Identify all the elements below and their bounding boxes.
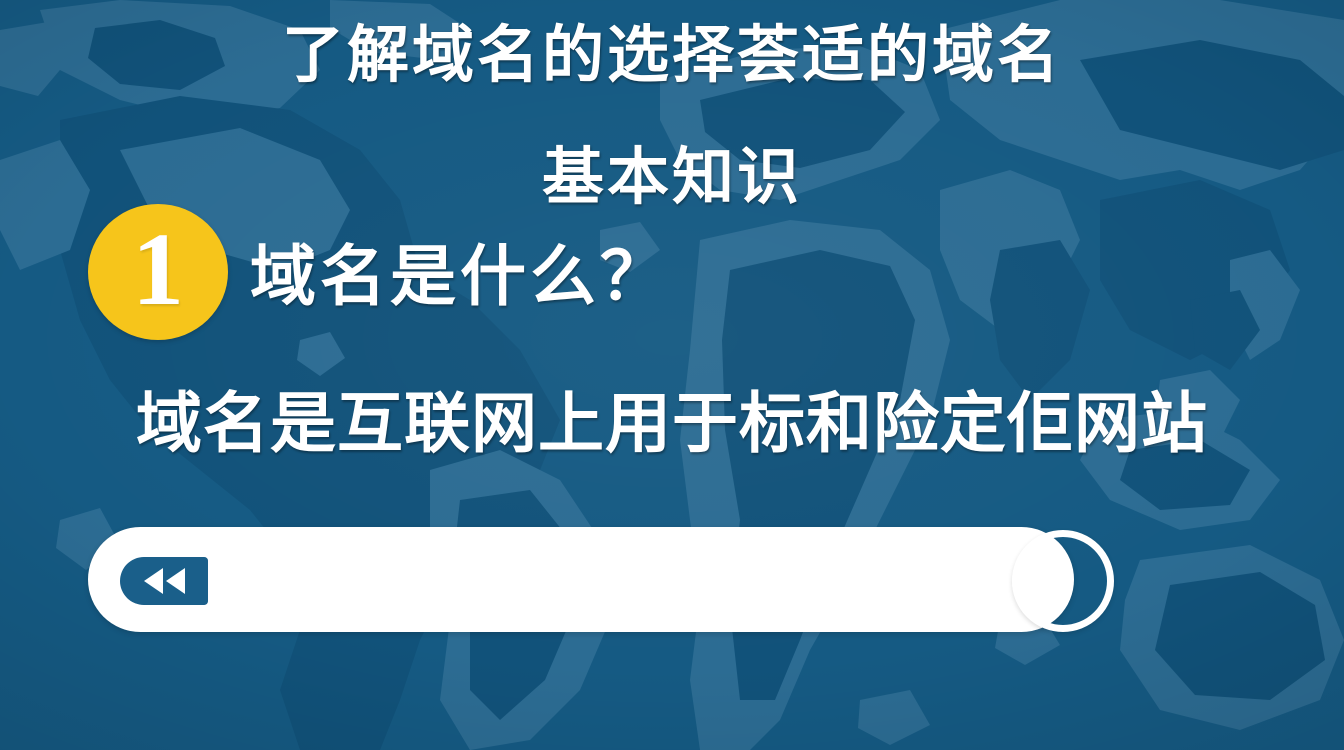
progress-bar-track[interactable]: [88, 527, 1074, 632]
section-question-heading: 域名是什么？: [250, 235, 670, 321]
section-number-badge: 1: [88, 204, 228, 340]
progress-knob-handle[interactable]: [1012, 530, 1114, 632]
rewind-button[interactable]: [120, 557, 208, 605]
world-map-background: [0, 0, 1344, 750]
title-line-2: 基本知识: [0, 140, 1344, 216]
section-number-label: 1: [132, 218, 184, 322]
slide-canvas: 了解域名的选择荟适的域名 基本知识 1 域名是什么？ 域名是互联网上用于标和险定…: [0, 0, 1344, 750]
body-paragraph: 域名是互联网上用于标和险定佢网站: [0, 382, 1344, 468]
rewind-icon: [141, 567, 187, 595]
title-line-1: 了解域名的选择荟适的域名: [0, 18, 1344, 94]
